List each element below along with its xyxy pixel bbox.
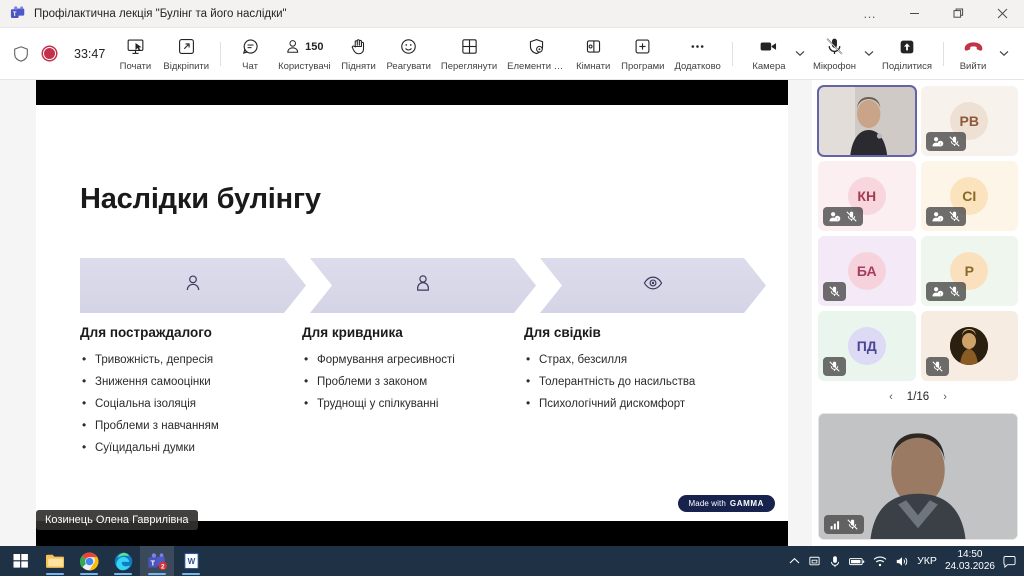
chevron-down-icon	[795, 50, 805, 57]
camera-icon	[758, 36, 779, 58]
column-heading: Для постраждалого	[80, 325, 284, 340]
prev-page-button[interactable]: ‹	[887, 391, 895, 403]
tool-label: Підняти	[341, 61, 376, 72]
microphone-muted-icon	[948, 210, 961, 223]
self-view-tile[interactable]	[818, 413, 1018, 540]
record-dot-icon	[40, 45, 58, 63]
teams-icon: T 2	[147, 552, 167, 571]
grid-view-icon	[460, 36, 479, 58]
badge-prefix: Made with	[689, 499, 726, 508]
tile-badges	[823, 282, 846, 301]
running-indicator	[148, 573, 166, 575]
column-offender: Для кривдника Формування агресивності Пр…	[302, 325, 524, 462]
battery-icon[interactable]	[849, 556, 865, 567]
toolbar-left-group: 33:47	[0, 45, 105, 63]
raise-hand-button[interactable]: Підняти	[336, 30, 382, 78]
avatar-initials: БА	[857, 263, 877, 279]
svg-text:!: !	[939, 141, 940, 146]
running-indicator	[114, 573, 132, 575]
present-screen-icon	[126, 36, 145, 58]
made-with-gamma-badge[interactable]: Made with GAMMA	[678, 495, 775, 512]
avatar-initials: ПД	[857, 338, 877, 354]
list-item: Зниження самооцінки	[80, 375, 284, 389]
emoji-icon	[399, 36, 418, 58]
participant-pager: ‹ 1/16 ›	[818, 386, 1018, 408]
tool-label: Елементи ке…	[507, 61, 565, 72]
breakout-rooms-button[interactable]: Кімнати	[570, 30, 616, 78]
chevron-down-icon	[999, 50, 1009, 57]
wifi-icon[interactable]	[873, 555, 887, 567]
pinned-participant-icon: !	[828, 210, 841, 223]
slide-title: Наслідки булінгу	[80, 183, 321, 216]
running-indicator	[80, 573, 98, 575]
list-item: Труднощі у спілкуванні	[302, 397, 506, 411]
clock[interactable]: 14:50 24.03.2026	[945, 549, 995, 574]
close-icon	[997, 8, 1008, 19]
minimize-icon	[909, 8, 920, 19]
start-presenting-button[interactable]: Почати	[112, 30, 158, 78]
participant-count: 150	[305, 41, 323, 53]
microphone-muted-icon	[948, 135, 961, 148]
chevron-row	[80, 258, 766, 313]
column-heading: Для кривдника	[302, 325, 506, 340]
svg-text:!: !	[837, 216, 838, 221]
edge-icon	[114, 552, 133, 571]
title-bar: T Профілактична лекція "Булінг та його н…	[0, 0, 1024, 28]
toolbar-divider	[732, 42, 733, 66]
tile-badges: !	[926, 132, 966, 151]
list-item: Толерантність до насильства	[524, 375, 728, 389]
participant-tile[interactable]: БА	[818, 236, 916, 306]
chrome-button[interactable]	[72, 546, 106, 576]
tool-label: Користувачі	[278, 61, 330, 72]
svg-text:W: W	[187, 557, 195, 566]
tool-label: Чат	[242, 61, 258, 72]
svg-text:!: !	[939, 291, 940, 296]
start-button[interactable]	[4, 546, 38, 576]
minimize-button[interactable]	[892, 0, 936, 28]
microphone-button[interactable]: Мікрофон	[808, 30, 861, 78]
breakout-rooms-icon	[584, 36, 603, 58]
tool-label: Переглянути	[441, 61, 497, 72]
chat-button[interactable]: Чат	[227, 30, 273, 78]
pinned-participant-icon: !	[931, 135, 944, 148]
overflow-chevron-icon[interactable]	[789, 557, 800, 565]
participant-tile[interactable]: КН !	[818, 161, 916, 231]
toolbar-center-group: Почати Відкріпити	[105, 30, 746, 78]
restore-button[interactable]	[936, 0, 980, 28]
column-witnesses: Для свідків Страх, безсилля Толерантніст…	[524, 325, 746, 462]
avatar: БА	[848, 252, 886, 290]
avatar: ПД	[848, 327, 886, 365]
hangup-icon	[962, 36, 985, 58]
tool-label: Камера	[752, 61, 785, 72]
notification-icon[interactable]	[1003, 555, 1016, 568]
microphone-muted-icon	[824, 36, 845, 58]
camera-button[interactable]: Камера	[746, 30, 792, 78]
shield-icon	[12, 45, 30, 63]
participant-tile[interactable]: Р !	[921, 236, 1019, 306]
word-icon: W	[183, 552, 200, 570]
microphone-muted-icon	[845, 210, 858, 223]
list-item: Психологічний дискомфорт	[524, 397, 728, 411]
chrome-icon	[80, 552, 99, 571]
avatar-initials: КН	[857, 188, 876, 204]
tool-label: Відкріпити	[163, 61, 209, 72]
participant-tile[interactable]	[921, 311, 1019, 381]
clock-time: 14:50	[945, 549, 995, 562]
tool-label: Мікрофон	[813, 61, 856, 72]
toolbar-right-group: Камера Мікрофон	[746, 30, 1024, 78]
consequences-columns: Для постраждалого Тривожність, депресія …	[80, 325, 746, 462]
svg-text:T: T	[151, 558, 156, 567]
edge-button[interactable]	[106, 546, 140, 576]
toolbar-divider	[943, 42, 944, 66]
microphone-muted-icon	[828, 360, 841, 373]
apps-button[interactable]: Програми	[616, 30, 669, 78]
list-item: Страх, безсилля	[524, 353, 728, 367]
meeting-timer: 33:47	[74, 47, 105, 61]
shared-content-frame[interactable]: Наслідки булінгу	[36, 80, 788, 546]
chat-icon	[241, 36, 260, 58]
mic-tray-icon[interactable]	[829, 555, 841, 568]
teams-badge-count: 2	[161, 563, 165, 570]
tile-badges: !	[926, 282, 966, 301]
participant-tile[interactable]: СІ !	[921, 161, 1019, 231]
people-icon: 150	[285, 36, 323, 58]
tool-label: Кімнати	[576, 61, 610, 72]
active-speaker-name: Козинець Олена Гаврилівна	[36, 510, 198, 530]
more-dots-icon	[688, 36, 707, 58]
camera-options-caret[interactable]	[792, 34, 808, 74]
taskbar-apps: T 2 W	[0, 546, 208, 576]
window-more-button[interactable]: …	[848, 0, 892, 28]
next-page-button[interactable]: ›	[941, 391, 949, 403]
list-item: Проблеми з законом	[302, 375, 506, 389]
react-button[interactable]: Реагувати	[382, 30, 436, 78]
tool-label: Реагувати	[387, 61, 431, 72]
tool-label: Почати	[120, 61, 152, 72]
tool-label: Додатково	[674, 61, 720, 72]
windows-taskbar: T 2 W	[0, 546, 1024, 576]
teams-icon: T	[9, 6, 25, 22]
language-indicator[interactable]: УКР	[917, 555, 937, 567]
tool-label: Вийти	[960, 61, 987, 72]
list-item: Формування агресивності	[302, 353, 506, 367]
system-tray: УКР 14:50 24.03.2026	[789, 549, 1024, 574]
raise-hand-icon	[349, 36, 368, 58]
avatar-photo	[950, 327, 988, 365]
list-item: Тривожність, депресія	[80, 353, 284, 367]
bullet-list: Формування агресивності Проблеми з закон…	[302, 353, 506, 411]
leave-options-caret[interactable]	[996, 34, 1012, 74]
running-indicator	[46, 573, 64, 575]
signal-bars-icon	[829, 518, 842, 531]
bullet-list: Страх, безсилля Толерантність до насильс…	[524, 353, 728, 411]
participant-tile[interactable]: РВ !	[921, 86, 1019, 156]
pinned-participant-icon: !	[931, 285, 944, 298]
running-indicator	[182, 573, 200, 575]
close-button[interactable]	[980, 0, 1024, 28]
controls-button[interactable]: Елементи ке…	[502, 30, 570, 78]
apps-plus-icon	[633, 36, 652, 58]
pop-out-button[interactable]: Відкріпити	[158, 30, 214, 78]
badge-brand: GAMMA	[730, 499, 764, 508]
column-victim: Для постраждалого Тривожність, депресія …	[80, 325, 302, 462]
chevron-step-1	[80, 258, 306, 313]
tile-badges: !	[823, 207, 863, 226]
leave-button[interactable]: Вийти	[950, 30, 996, 78]
share-tray-icon	[897, 36, 917, 58]
tile-badges	[823, 357, 846, 376]
onedrive-icon[interactable]	[808, 555, 821, 568]
microphone-muted-icon	[948, 285, 961, 298]
toolbar-divider	[220, 42, 221, 66]
person-filled-icon	[412, 272, 434, 299]
microphone-muted-icon	[846, 518, 859, 531]
pinned-participant-icon: !	[931, 210, 944, 223]
tile-badges	[926, 357, 949, 376]
avatar-initials: Р	[965, 263, 974, 279]
windows-logo-icon	[13, 553, 29, 569]
page-indicator: 1/16	[907, 391, 929, 403]
restore-icon	[953, 8, 964, 19]
tool-label: Програми	[621, 61, 664, 72]
person-icon	[182, 272, 204, 299]
avatar-initials: СІ	[962, 188, 976, 204]
microphone-muted-icon	[828, 285, 841, 298]
meeting-toolbar: 33:47 Почати	[0, 28, 1024, 80]
video-thumbnail	[818, 86, 916, 156]
participants-rail: РВ ! КН	[812, 80, 1024, 546]
word-button[interactable]: W	[174, 546, 208, 576]
tool-label: Поділитися	[882, 61, 932, 72]
participant-tile[interactable]: ПД	[818, 311, 916, 381]
share-button[interactable]: Поділитися	[877, 30, 937, 78]
chevron-step-3	[540, 258, 766, 313]
chevron-step-2	[310, 258, 536, 313]
eye-icon	[642, 272, 664, 299]
list-item: Проблеми з навчанням	[80, 419, 284, 433]
volume-icon[interactable]	[895, 555, 909, 568]
participant-grid: РВ ! КН	[818, 86, 1018, 381]
chevron-down-icon	[864, 50, 874, 57]
avatar-photo-image	[950, 327, 988, 365]
window-title: Профілактична лекція "Булінг та його нас…	[34, 8, 287, 20]
more-options-button[interactable]: Додатково	[669, 30, 725, 78]
bullet-list: Тривожність, депресія Зниження самооцінк…	[80, 353, 284, 455]
teams-button[interactable]: T 2	[140, 546, 174, 576]
column-heading: Для свідків	[524, 325, 728, 340]
svg-text:T: T	[12, 12, 16, 18]
list-item: Соціальна ізоляція	[80, 397, 284, 411]
presentation-slide: Наслідки булінгу	[36, 105, 788, 521]
list-item: Суїцидальні думки	[80, 441, 284, 455]
microphone-options-caret[interactable]	[861, 34, 877, 74]
self-view-badges	[824, 515, 864, 534]
folder-icon	[45, 552, 65, 570]
teams-meeting-window: T Профілактична лекція "Булінг та його н…	[0, 0, 1024, 576]
tile-badges: !	[926, 207, 966, 226]
more-dots-icon: …	[863, 6, 877, 21]
file-explorer-button[interactable]	[38, 546, 72, 576]
microphone-muted-icon	[931, 360, 944, 373]
participants-button[interactable]: 150 Користувачі	[273, 30, 335, 78]
svg-text:!: !	[939, 216, 940, 221]
pop-out-icon	[177, 36, 196, 58]
clock-date: 24.03.2026	[945, 561, 995, 574]
participant-tile-active[interactable]	[818, 86, 916, 156]
avatar-initials: РВ	[960, 113, 979, 129]
controls-shield-icon	[527, 36, 546, 58]
view-button[interactable]: Переглянути	[436, 30, 502, 78]
